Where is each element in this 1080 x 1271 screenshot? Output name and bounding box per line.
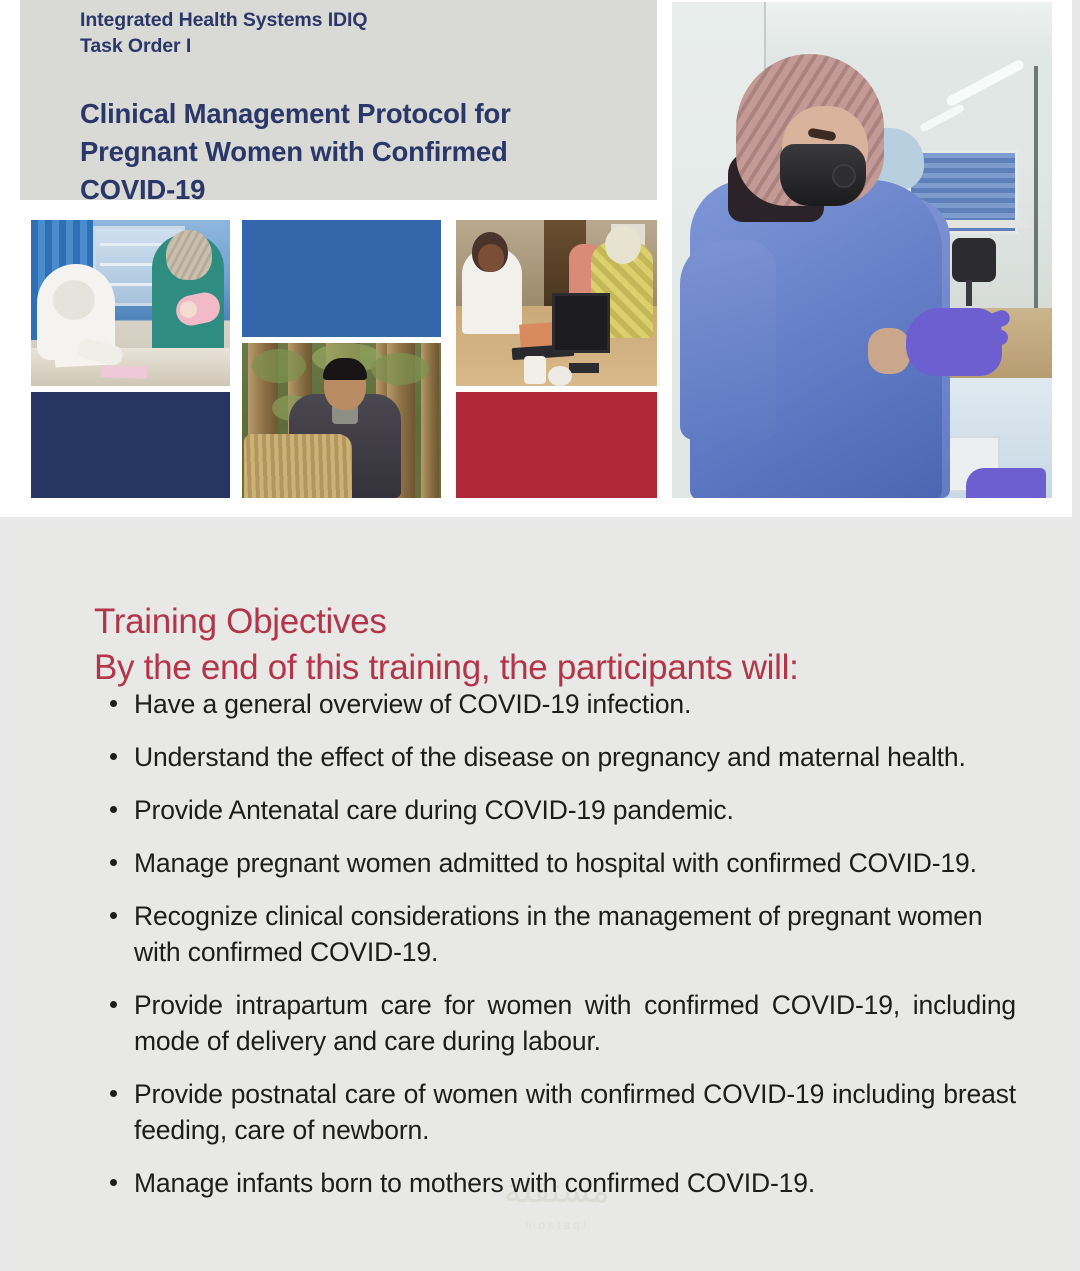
ppe-health-worker-photo xyxy=(672,2,1052,498)
list-item-label: Recognize clinical considerations in the… xyxy=(134,898,1016,970)
title-line-2: Pregnant Women with Confirmed xyxy=(80,136,508,167)
objectives-heading-line-1: Training Objectives xyxy=(94,602,387,641)
list-item-label: Provide postnatal care of women with con… xyxy=(134,1076,1016,1148)
list-item-label: Provide Antenatal care during COVID-19 p… xyxy=(134,792,1016,828)
title-line-3: COVID-19 xyxy=(80,174,205,205)
clinic-consultation-photo xyxy=(31,220,230,386)
title-line-1: Clinical Management Protocol for xyxy=(80,98,511,129)
presentation-scroll-view[interactable]: Integrated Health Systems IDIQ Task Orde… xyxy=(0,0,1080,1271)
community-health-desk-photo xyxy=(456,220,657,386)
bullet-dot-icon xyxy=(110,806,117,813)
title-slide: Integrated Health Systems IDIQ Task Orde… xyxy=(0,0,1080,517)
title-band: Integrated Health Systems IDIQ Task Orde… xyxy=(20,0,657,200)
bullet-dot-icon xyxy=(110,753,117,760)
objectives-list: Have a general overview of COVID-19 infe… xyxy=(96,686,1016,1218)
program-line-1: Integrated Health Systems IDIQ xyxy=(80,9,367,31)
list-item: Provide postnatal care of women with con… xyxy=(96,1076,1016,1148)
photo-collage xyxy=(31,220,657,498)
bullet-dot-icon xyxy=(110,859,117,866)
objectives-heading-line-2: By the end of this training, the partici… xyxy=(94,648,799,687)
list-item-label: Have a general overview of COVID-19 infe… xyxy=(134,686,1016,722)
slide-title: Clinical Management Protocol for Pregnan… xyxy=(80,95,655,209)
bullet-dot-icon xyxy=(110,700,117,707)
bullet-dot-icon xyxy=(110,1090,117,1097)
farmer-photo xyxy=(242,343,441,498)
list-item: Provide Antenatal care during COVID-19 p… xyxy=(96,792,1016,828)
list-item: Understand the effect of the disease on … xyxy=(96,739,1016,775)
list-item: Manage pregnant women admitted to hospit… xyxy=(96,845,1016,881)
list-item-label: Understand the effect of the disease on … xyxy=(134,739,1016,775)
list-item-label: Provide intrapartum care for women with … xyxy=(134,987,1016,1059)
bullet-dot-icon xyxy=(110,1179,117,1186)
bullet-dot-icon xyxy=(110,912,117,919)
list-item: Provide intrapartum care for women with … xyxy=(96,987,1016,1059)
bullet-dot-icon xyxy=(110,1001,117,1008)
list-item: Recognize clinical considerations in the… xyxy=(96,898,1016,970)
list-item: Manage infants born to mothers with conf… xyxy=(96,1165,1016,1201)
training-objectives-slide: Training Objectives By the end of this t… xyxy=(12,526,1072,1271)
blue-color-block xyxy=(242,220,441,337)
program-line-2: Task Order I xyxy=(80,35,191,57)
red-color-block xyxy=(456,392,657,498)
navy-color-block xyxy=(31,392,230,498)
objectives-heading: Training Objectives By the end of this t… xyxy=(94,599,994,691)
program-subtitle: Integrated Health Systems IDIQ Task Orde… xyxy=(80,7,640,59)
list-item-label: Manage infants born to mothers with conf… xyxy=(134,1165,1016,1201)
list-item: Have a general overview of COVID-19 infe… xyxy=(96,686,1016,722)
list-item-label: Manage pregnant women admitted to hospit… xyxy=(134,845,1016,881)
